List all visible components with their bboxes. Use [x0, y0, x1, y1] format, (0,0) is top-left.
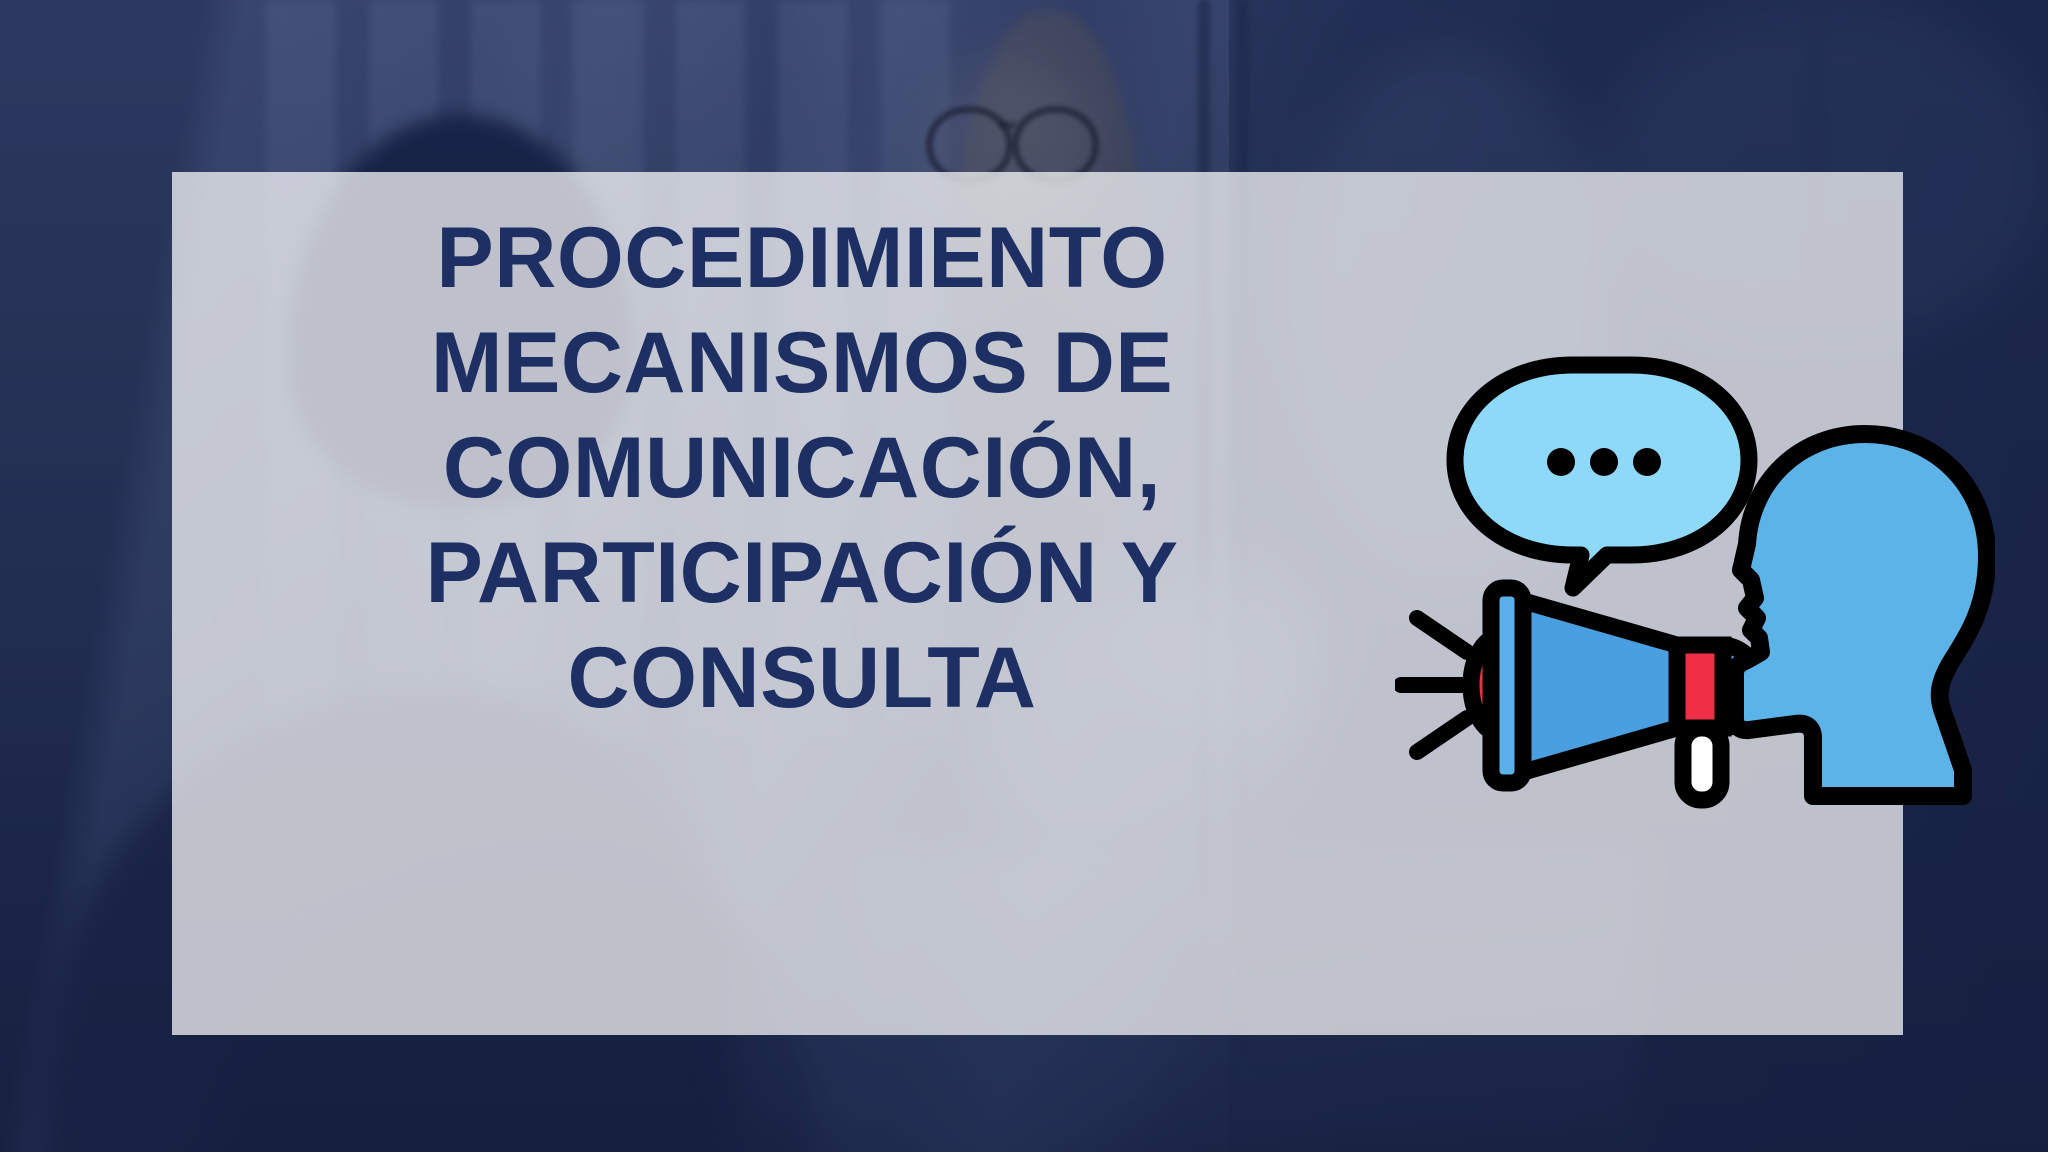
speech-dot-1 — [1547, 448, 1575, 476]
speech-dot-3 — [1633, 448, 1661, 476]
megaphone-handle — [1683, 728, 1721, 800]
page-title: PROCEDIMIENTO MECANISMOS DE COMUNICACIÓN… — [212, 206, 1392, 731]
speech-bubble-shape — [1455, 365, 1749, 588]
head-profile-shape — [1735, 434, 1987, 796]
speech-dot-2 — [1590, 448, 1618, 476]
title-line-4: PARTICIPACIÓN Y — [212, 521, 1392, 626]
megaphone-red-band — [1677, 645, 1723, 728]
megaphone-cone — [1513, 598, 1677, 775]
title-line-2: MECANISMOS DE — [212, 311, 1392, 416]
sound-line-top — [1417, 618, 1467, 652]
megaphone-icon — [1471, 588, 1761, 800]
communication-megaphone-head-icon — [1395, 330, 1995, 830]
megaphone-face-plate — [1491, 588, 1523, 783]
head-profile-icon — [1735, 434, 1987, 796]
slide-canvas: PROCEDIMIENTO MECANISMOS DE COMUNICACIÓN… — [0, 0, 2048, 1152]
title-line-5: CONSULTA — [212, 626, 1392, 731]
sound-line-bottom — [1417, 718, 1467, 752]
title-line-3: COMUNICACIÓN, — [212, 416, 1392, 521]
speech-bubble-icon — [1455, 365, 1749, 588]
sound-wave-lines — [1401, 618, 1467, 752]
title-line-1: PROCEDIMIENTO — [212, 206, 1392, 311]
